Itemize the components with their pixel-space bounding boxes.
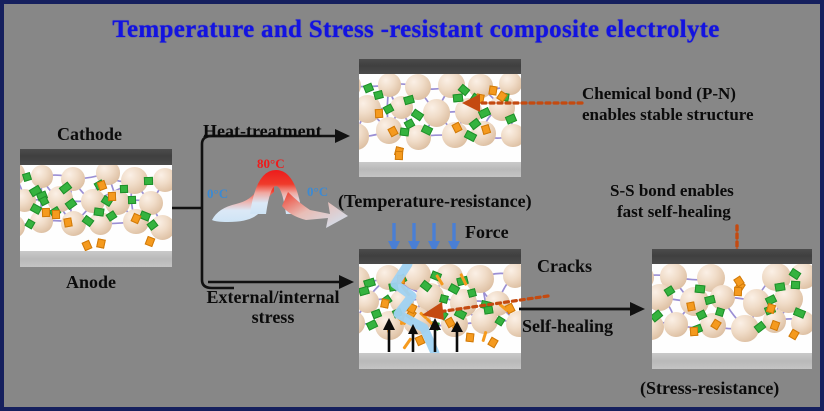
ss-bond-note-line1: S-S bond enables — [610, 181, 734, 200]
ss-bond-note-line2: fast self-healing — [617, 202, 731, 221]
pn-bond-note-line1: Chemical bond (P-N) — [582, 84, 736, 103]
electrolyte-layer — [359, 74, 521, 162]
pn-bond-node — [120, 185, 128, 193]
cathode-layer — [20, 149, 172, 165]
anode-layer — [359, 353, 521, 369]
cathode-label: Cathode — [57, 124, 122, 144]
ss-bond-node — [690, 327, 699, 337]
left-temperature-label: 0°C — [207, 186, 228, 202]
cathode-layer — [359, 59, 521, 74]
stress-label-line1: External/internal — [188, 287, 358, 307]
pn-bond-node — [791, 281, 800, 289]
ss-bond-node — [395, 151, 403, 160]
cathode-layer — [652, 249, 812, 264]
pn-bond-node — [144, 177, 153, 185]
heat-treatment-label: Heat-treatment — [203, 121, 322, 141]
pn-bond-node — [695, 284, 706, 293]
filler-particle — [31, 165, 53, 187]
upward-stress-arrows — [383, 316, 463, 352]
anode-layer — [652, 353, 812, 369]
ss-bond-node — [42, 207, 50, 216]
cathode-layer — [359, 249, 521, 264]
cracks-label: Cracks — [537, 256, 592, 276]
pn-bond-node — [774, 282, 785, 291]
anode-label: Anode — [66, 272, 116, 292]
ss-bond-node — [734, 287, 742, 296]
stress-resistance-caption: (Stress-resistance) — [640, 378, 779, 398]
self-healing-label: Self-healing — [522, 316, 613, 336]
ss-bond-node — [375, 109, 383, 118]
pristine-electrolyte-cell — [20, 149, 172, 267]
force-label: Force — [465, 222, 509, 242]
filler-particle — [501, 124, 521, 148]
anode-layer — [359, 162, 521, 177]
electrolyte-layer — [652, 264, 812, 353]
healed-electrolyte-cell — [652, 249, 812, 369]
peak-temperature-label: 80°C — [257, 156, 285, 172]
temperature-resistance-caption: (Temperature-resistance) — [338, 191, 532, 211]
filler-particle — [664, 312, 689, 337]
pn-bond-note-line2: enables stable structure — [582, 105, 754, 124]
figure-title: Temperature and Stress -resistant compos… — [4, 16, 824, 44]
anode-layer — [20, 251, 172, 267]
ss-bond-node — [52, 210, 60, 219]
figure-canvas: Temperature and Stress -resistant compos… — [0, 0, 824, 411]
ss-bond-node — [108, 192, 116, 201]
electrolyte-layer — [20, 165, 172, 251]
pn-bond-node — [399, 128, 409, 137]
stress-label-line2: stress — [188, 307, 358, 327]
pn-bond-pointer-arrow — [454, 92, 584, 114]
ss-bond-node — [64, 217, 73, 227]
temperature-resistant-cell — [359, 59, 521, 177]
pn-bond-node — [128, 196, 136, 204]
right-temperature-label: 0°C — [307, 184, 328, 200]
ss-bond-node — [686, 301, 696, 311]
